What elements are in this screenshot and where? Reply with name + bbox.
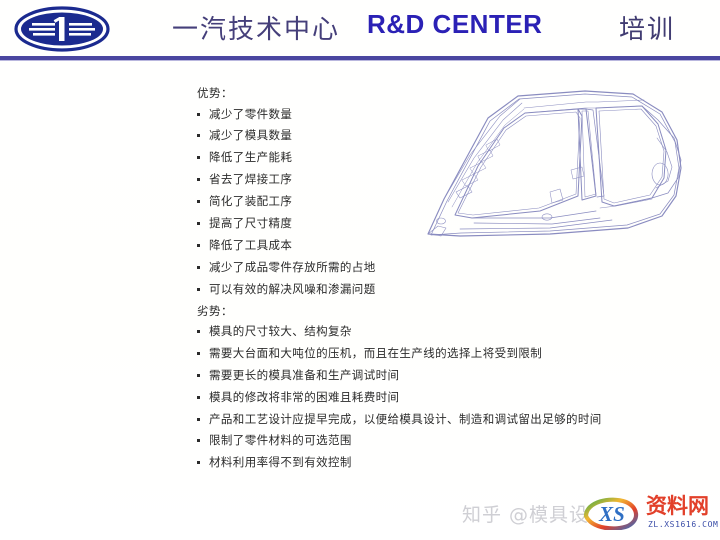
slide-body: 优势： 减少了零件数量 减少了模具数量 降低了生产能耗 省去了焊接工序 简化了装… bbox=[195, 88, 715, 479]
list-item: 材料利用率得不到有效控制 bbox=[195, 457, 715, 469]
list-item: 需要更长的模具准备和生产调试时间 bbox=[195, 370, 715, 382]
watermark-url: ZL.XS1616.COM bbox=[648, 520, 718, 529]
xs-mark-icon: XS bbox=[580, 496, 644, 530]
header-section-label: 培训 bbox=[619, 9, 675, 46]
xs-logo: XS 资料网 ZL.XS1616.COM bbox=[580, 494, 720, 538]
watermark-brand: 资料网 bbox=[646, 496, 709, 517]
list-item: 降低了生产能耗 bbox=[195, 152, 715, 164]
list-item: 减少了模具数量 bbox=[195, 130, 715, 142]
svg-text:XS: XS bbox=[598, 502, 625, 526]
slide-canvas: 一汽技术中心 R&D CENTER 培训 bbox=[0, 0, 720, 540]
disadvantages-list: 模具的尺寸较大、结构复杂 需要大台面和大吨位的压机，而且在生产线的选择上将受到限… bbox=[195, 326, 715, 469]
header-org-cn: 一汽技术中心 bbox=[172, 9, 340, 46]
list-item: 提高了尺寸精度 bbox=[195, 218, 715, 230]
watermark-text: 知乎 @模具设 bbox=[462, 500, 589, 527]
list-item: 减少了成品零件存放所需的占地 bbox=[195, 262, 715, 274]
list-item: 限制了零件材料的可选范围 bbox=[195, 435, 715, 447]
list-item: 省去了焊接工序 bbox=[195, 174, 715, 186]
list-item: 产品和工艺设计应提早完成，以便给模具设计、制造和调试留出足够的时间 bbox=[195, 414, 715, 426]
slide-header: 一汽技术中心 R&D CENTER 培训 bbox=[0, 0, 720, 58]
list-item: 可以有效的解决风噪和渗漏问题 bbox=[195, 284, 715, 296]
list-item: 减少了零件数量 bbox=[195, 109, 715, 121]
list-item: 模具的尺寸较大、结构复杂 bbox=[195, 326, 715, 338]
header-org-en: R&D CENTER bbox=[367, 9, 542, 40]
list-item: 需要大台面和大吨位的压机，而且在生产线的选择上将受到限制 bbox=[195, 348, 715, 360]
list-item: 模具的修改将非常的困难且耗费时间 bbox=[195, 392, 715, 404]
faw-logo bbox=[14, 6, 110, 52]
list-item: 简化了装配工序 bbox=[195, 196, 715, 208]
watermark: 知乎 @模具设 XS 资料网 ZL.XS1 bbox=[462, 492, 720, 538]
advantages-heading: 优势： bbox=[197, 88, 715, 100]
header-divider-soft bbox=[0, 60, 720, 61]
disadvantages-heading: 劣势： bbox=[197, 306, 715, 318]
advantages-list: 减少了零件数量 减少了模具数量 降低了生产能耗 省去了焊接工序 简化了装配工序 … bbox=[195, 109, 715, 296]
list-item: 降低了工具成本 bbox=[195, 240, 715, 252]
